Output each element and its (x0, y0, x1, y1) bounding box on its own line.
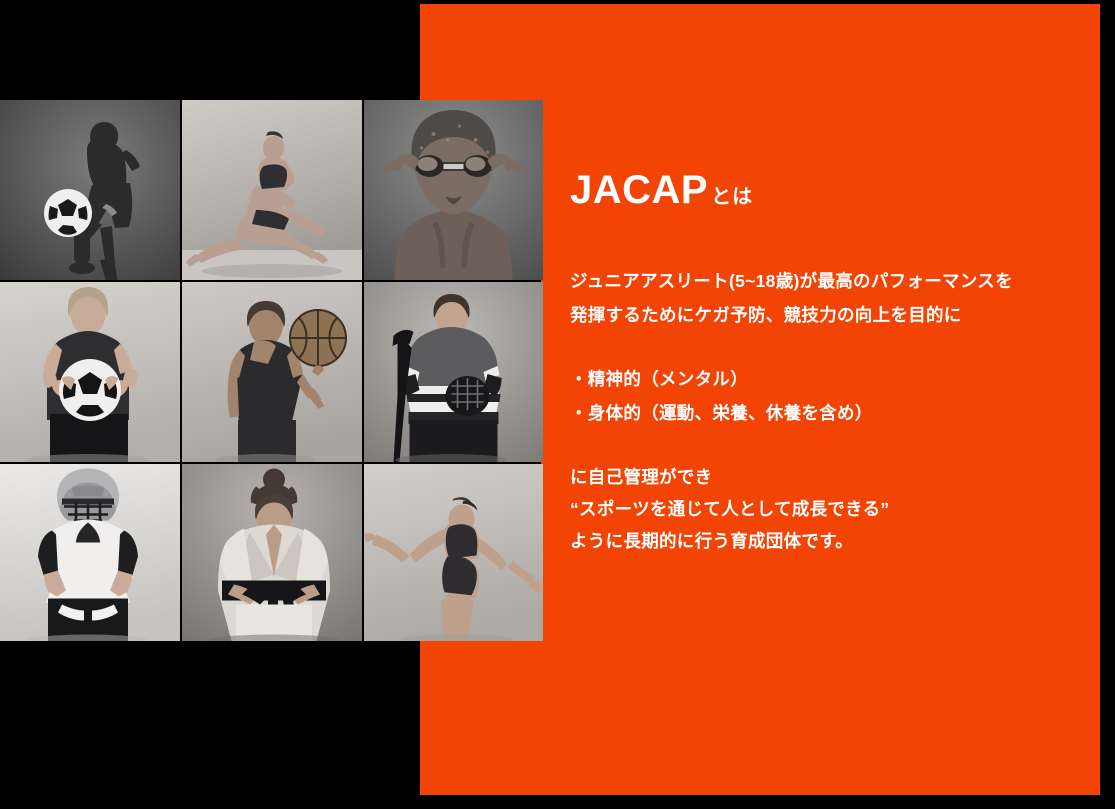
photo-tile-judo-athlete-black-belt (182, 464, 362, 641)
photo-tile-basketball-player-spinning-ball (182, 282, 362, 462)
page-title-brand: JACAP (570, 170, 708, 210)
athlete-photo-mosaic (0, 100, 541, 639)
lead-line-1: ジュニアアスリート(5~18歳)が最高のパフォーマンスを (570, 264, 1090, 298)
page-title: JACAP とは (570, 170, 1090, 210)
closing-paragraph: に自己管理ができ “スポーツを通じて人として成長できる” ように長期的に行う育成… (570, 461, 1090, 558)
photo-tile-ice-hockey-player-with-stick (364, 282, 543, 462)
closing-line-2: “スポーツを通じて人として成長できる” (570, 493, 1090, 525)
photo-tile-seated-gymnast-dancer (182, 100, 362, 280)
bullet-item-physical: ・身体的（運動、栄養、休養を含め） (570, 396, 1090, 430)
slide-canvas: JACAP とは ジュニアアスリート(5~18歳)が最高のパフォーマンスを 発揮… (0, 0, 1115, 809)
photo-tile-ballet-dancer-posing (364, 464, 543, 641)
lead-line-2: 発揮するためにケガ予防、競技力の向上を目的に (570, 298, 1090, 332)
bullet-list: ・精神的（メンタル） ・身体的（運動、栄養、休養を含め） (570, 362, 1090, 430)
photo-tile-american-football-player (0, 464, 180, 641)
photo-tile-female-soccer-player-holding-ball (0, 282, 180, 462)
closing-line-1: に自己管理ができ (570, 461, 1090, 493)
photo-tile-boy-juggling-soccer-ball (0, 100, 180, 280)
content-text-column: JACAP とは ジュニアアスリート(5~18歳)が最高のパフォーマンスを 発揮… (570, 170, 1090, 558)
lead-paragraph: ジュニアアスリート(5~18歳)が最高のパフォーマンスを 発揮するためにケガ予防… (570, 264, 1090, 332)
bullet-item-mental: ・精神的（メンタル） (570, 362, 1090, 396)
page-title-suffix: とは (711, 180, 753, 209)
closing-line-3: ように長期的に行う育成団体です。 (570, 525, 1090, 557)
photo-tile-swimmer-with-goggles (364, 100, 543, 280)
